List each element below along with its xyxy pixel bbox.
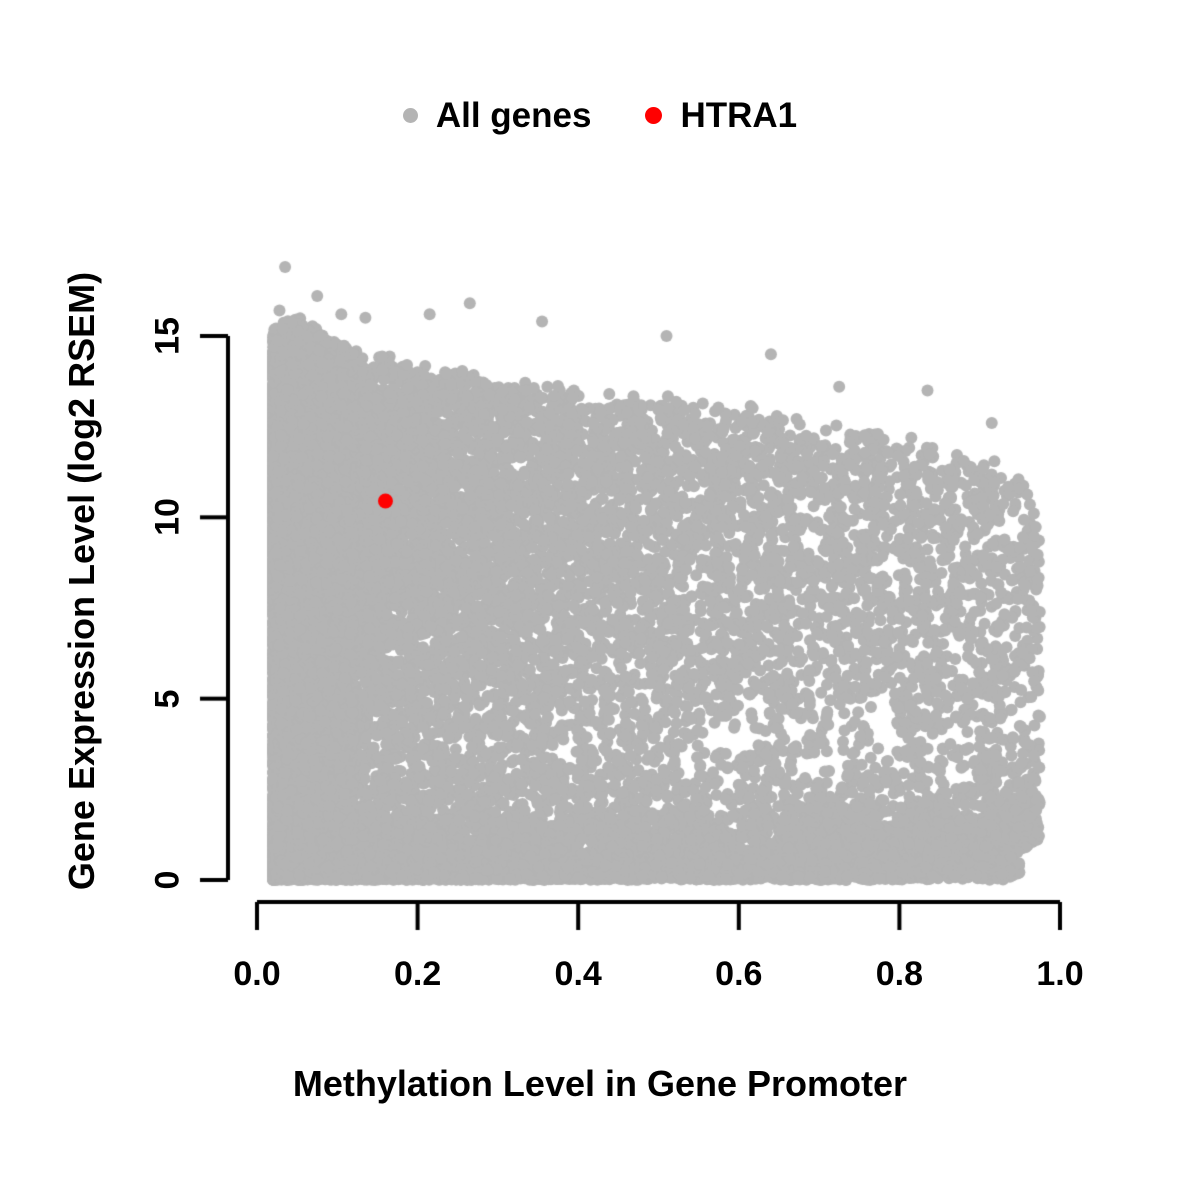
x-tick-label: 0.4 <box>555 955 602 994</box>
y-tick-label: 5 <box>149 689 188 708</box>
chart-root: All genes HTRA1 Methylation Level in Gen… <box>0 0 1200 1200</box>
chart-legend: All genes HTRA1 <box>0 84 1200 146</box>
y-tick-label: 10 <box>149 498 188 536</box>
legend-item-all-genes[interactable]: All genes <box>403 98 592 133</box>
x-tick-label: 0.6 <box>715 955 762 994</box>
x-tick-label: 0.0 <box>233 955 280 994</box>
x-tick-label: 1.0 <box>1036 955 1083 994</box>
legend-marker-all-genes <box>403 108 418 123</box>
legend-item-htra1[interactable]: HTRA1 <box>645 98 797 133</box>
x-tick-label: 0.2 <box>394 955 441 994</box>
x-axis-label: Methylation Level in Gene Promoter <box>0 1063 1200 1105</box>
legend-label-htra1: HTRA1 <box>680 98 797 133</box>
legend-label-all-genes: All genes <box>436 98 592 133</box>
y-axis-label-text: Gene Expression Level (log2 RSEM) <box>61 181 103 981</box>
y-tick-label: 0 <box>149 871 188 890</box>
x-tick-label: 0.8 <box>876 955 923 994</box>
legend-marker-htra1 <box>645 107 662 124</box>
y-tick-label: 15 <box>149 317 188 355</box>
scatter-plot-canvas <box>0 0 1200 1200</box>
